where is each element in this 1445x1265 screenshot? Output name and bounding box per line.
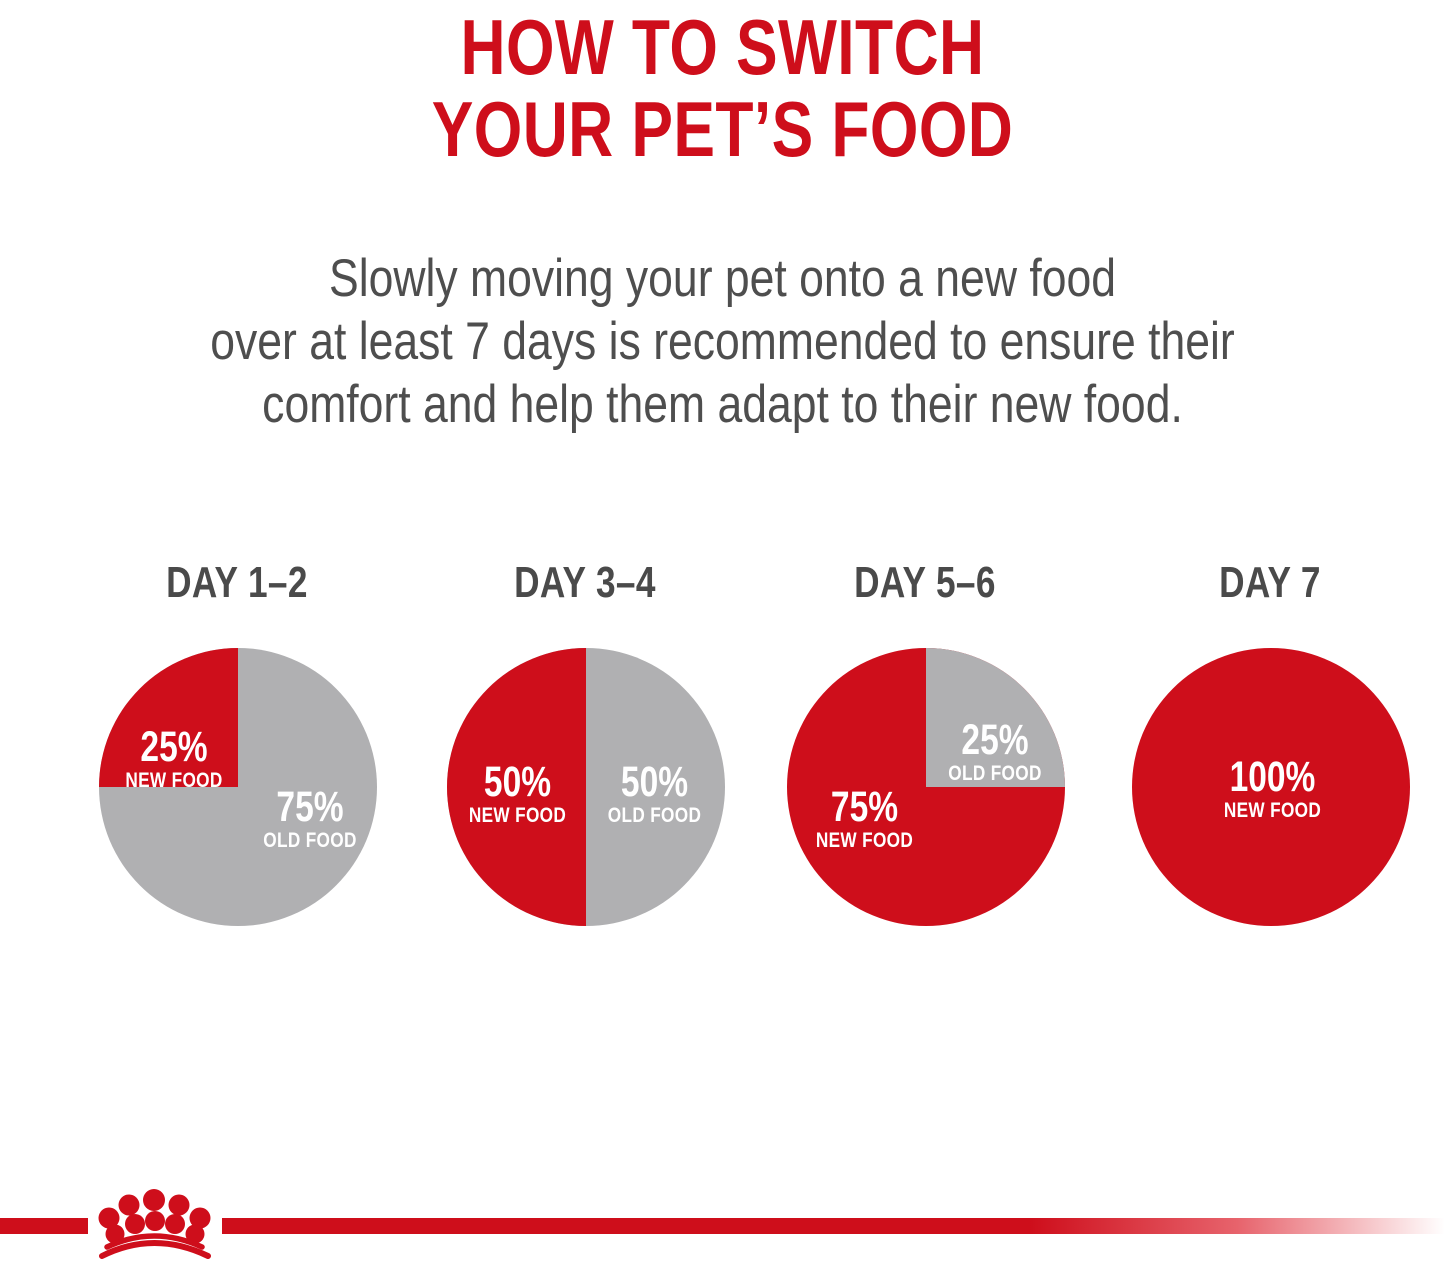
footer-rule-left <box>0 1218 88 1234</box>
pie-graphic-day-3-4 <box>447 648 725 926</box>
page-subtitle-line-2: over at least 7 days is recommended to e… <box>116 310 1330 373</box>
pie-chart-day-5-6: DAY 5–6 25% OLD FOOD 75% NEW FOOD <box>755 560 1095 960</box>
footer <box>0 1180 1445 1265</box>
pie-graphic-day-5-6 <box>787 648 1065 926</box>
page-subtitle-line-3: comfort and help them adapt to their new… <box>116 373 1330 436</box>
footer-rule-right <box>222 1218 1445 1234</box>
pie-graphic-day-1-2 <box>99 648 377 926</box>
pie-chart-day-7: DAY 7 100% NEW FOOD <box>1100 560 1440 960</box>
page-title-line-2: YOUR PET’S FOOD <box>145 88 1301 170</box>
day-label-4: DAY 7 <box>1134 560 1406 606</box>
royal-canin-crown-logo <box>88 1182 224 1262</box>
day-label-3: DAY 5–6 <box>789 560 1061 606</box>
page-subtitle-line-1: Slowly moving your pet onto a new food <box>116 247 1330 310</box>
pie-chart-day-1-2: DAY 1–2 25% NEW FOOD 75% OLD FOOD <box>67 560 407 960</box>
pie-chart-day-3-4: DAY 3–4 50% NEW FOOD 50% OLD FOOD <box>415 560 755 960</box>
pie-graphic-day-7 <box>1132 648 1410 926</box>
page-title: HOW TO SWITCH YOUR PET’S FOOD <box>145 6 1301 170</box>
day-label-2: DAY 3–4 <box>449 560 721 606</box>
page-title-line-1: HOW TO SWITCH <box>145 6 1301 88</box>
page-subtitle: Slowly moving your pet onto a new food o… <box>116 247 1330 436</box>
day-label-1: DAY 1–2 <box>101 560 373 606</box>
pie-chart-row: DAY 1–2 25% NEW FOOD 75% OLD FOOD DAY 3–… <box>0 560 1445 960</box>
